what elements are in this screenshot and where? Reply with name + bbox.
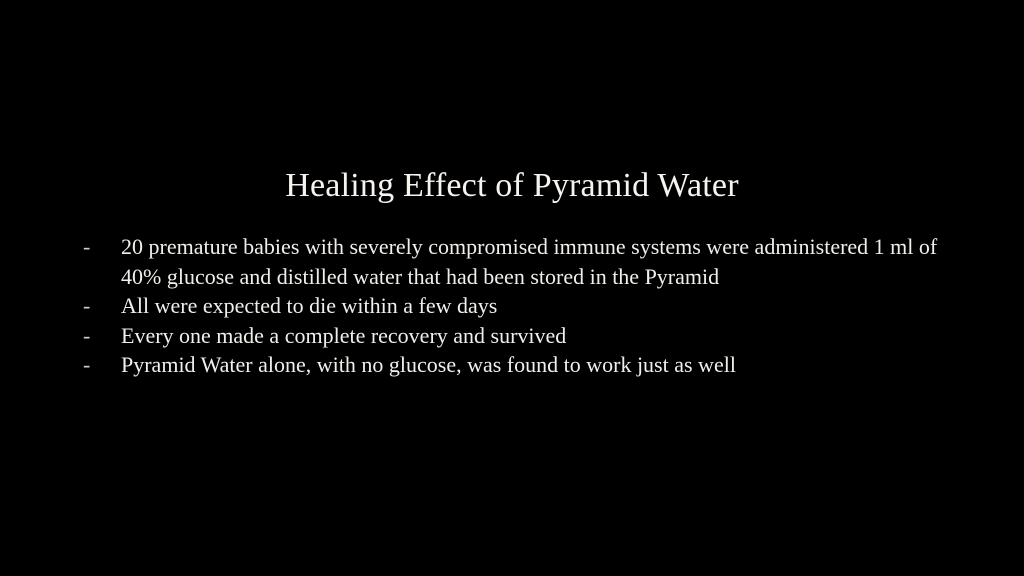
list-item-text: All were expected to die within a few da… <box>121 291 960 321</box>
bullet-dash-icon: - <box>83 232 103 262</box>
list-item: - All were expected to die within a few … <box>80 291 960 321</box>
bullet-list: - 20 premature babies with severely comp… <box>80 232 960 380</box>
bullet-dash-icon: - <box>83 350 103 380</box>
presentation-slide: Healing Effect of Pyramid Water - 20 pre… <box>0 0 1024 576</box>
list-item: - Pyramid Water alone, with no glucose, … <box>80 350 960 380</box>
bullet-dash-icon: - <box>83 321 103 351</box>
list-item: - 20 premature babies with severely comp… <box>80 232 960 291</box>
bullet-dash-icon: - <box>83 291 103 321</box>
list-item-text: Pyramid Water alone, with no glucose, wa… <box>121 350 960 380</box>
list-item: - Every one made a complete recovery and… <box>80 321 960 351</box>
page-title: Healing Effect of Pyramid Water <box>0 166 1024 206</box>
list-item-text: 20 premature babies with severely compro… <box>121 232 960 291</box>
list-item-text: Every one made a complete recovery and s… <box>121 321 960 351</box>
